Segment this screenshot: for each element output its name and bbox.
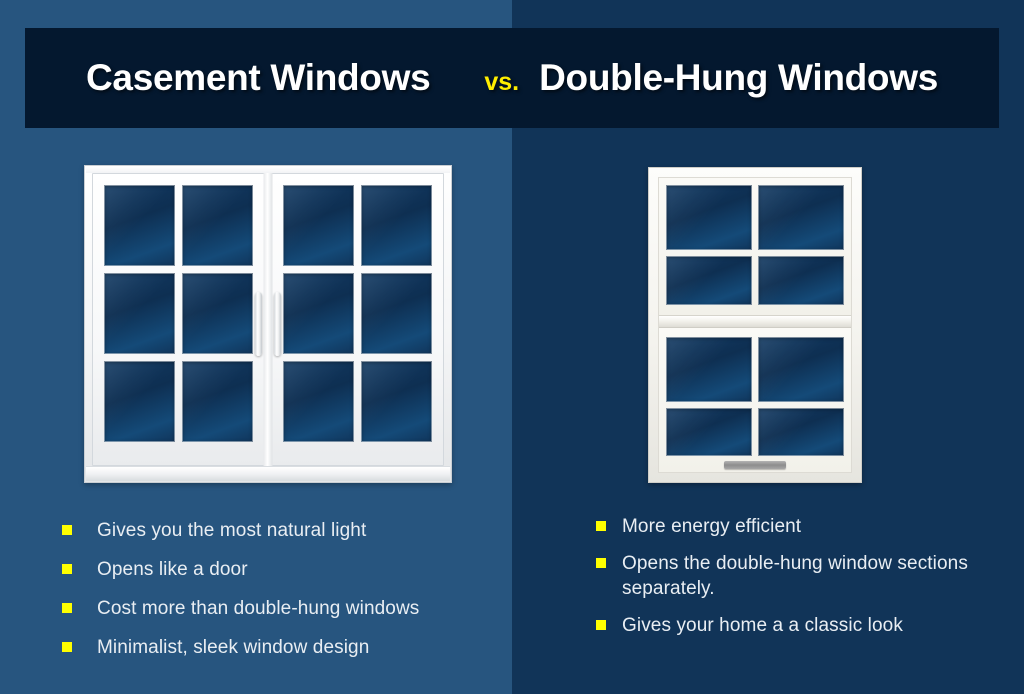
- window-pane: [283, 185, 354, 266]
- window-pane: [758, 185, 844, 250]
- window-pane: [182, 185, 253, 266]
- casement-sash-right: [271, 173, 444, 466]
- window-pane: [666, 337, 752, 402]
- list-item-label: Opens the double-hung window sections se…: [622, 551, 986, 601]
- list-item-label: Gives your home a a classic look: [622, 613, 903, 638]
- window-pane: [283, 273, 354, 354]
- window-pane: [104, 185, 175, 266]
- list-item: Minimalist, sleek window design: [62, 635, 492, 660]
- bullet-square-icon: [62, 564, 72, 574]
- vs-label: vs.: [484, 68, 519, 97]
- window-pane: [182, 273, 253, 354]
- list-item: Gives you the most natural light: [62, 518, 492, 543]
- list-item-label: Gives you the most natural light: [97, 518, 366, 543]
- page-title-left: Casement Windows: [86, 57, 430, 99]
- casement-window-illustration: [84, 165, 452, 483]
- casement-sash-left: [92, 173, 265, 466]
- bullet-square-icon: [596, 558, 606, 568]
- list-item: More energy efficient: [596, 514, 986, 539]
- list-item-label: Minimalist, sleek window design: [97, 635, 369, 660]
- page-title-right: Double-Hung Windows: [539, 57, 938, 99]
- list-item: Cost more than double-hung windows: [62, 596, 492, 621]
- double-hung-lift-handle-icon: [724, 461, 786, 469]
- window-pane: [666, 185, 752, 250]
- window-pane: [104, 361, 175, 442]
- window-pane: [758, 408, 844, 456]
- list-item-label: More energy efficient: [622, 514, 801, 539]
- list-item-label: Opens like a door: [97, 557, 248, 582]
- double-hung-window-illustration: [648, 167, 862, 483]
- window-pane: [361, 273, 432, 354]
- double-hung-frame-inner: [658, 177, 852, 473]
- list-item: Opens the double-hung window sections se…: [596, 551, 986, 601]
- casement-benefits-list: Gives you the most natural light Opens l…: [62, 518, 492, 674]
- bullet-square-icon: [596, 620, 606, 630]
- bullet-square-icon: [62, 525, 72, 535]
- window-pane: [283, 361, 354, 442]
- infographic-page: Casement Windows vs. Double-Hung Windows: [0, 0, 1024, 694]
- window-pane: [758, 256, 844, 304]
- casement-center-stile: [264, 173, 273, 466]
- double-hung-sash-upper: [659, 178, 851, 315]
- list-item: Opens like a door: [62, 557, 492, 582]
- double-hung-benefits-list: More energy efficient Opens the double-h…: [596, 514, 986, 650]
- casement-head-rail: [86, 167, 450, 173]
- list-item: Gives your home a a classic look: [596, 613, 986, 638]
- window-pane: [361, 361, 432, 442]
- window-pane: [361, 185, 432, 266]
- title-row: Casement Windows vs. Double-Hung Windows: [86, 57, 938, 99]
- double-hung-meeting-rail: [659, 315, 851, 328]
- double-hung-sash-lower: [659, 328, 851, 473]
- bullet-square-icon: [596, 521, 606, 531]
- casement-sill: [86, 466, 450, 481]
- window-pane: [666, 408, 752, 456]
- window-pane: [666, 256, 752, 304]
- list-item-label: Cost more than double-hung windows: [97, 596, 419, 621]
- header-band: Casement Windows vs. Double-Hung Windows: [25, 28, 999, 128]
- bullet-square-icon: [62, 603, 72, 613]
- window-pane: [104, 273, 175, 354]
- bullet-square-icon: [62, 642, 72, 652]
- window-pane: [758, 337, 844, 402]
- window-pane: [182, 361, 253, 442]
